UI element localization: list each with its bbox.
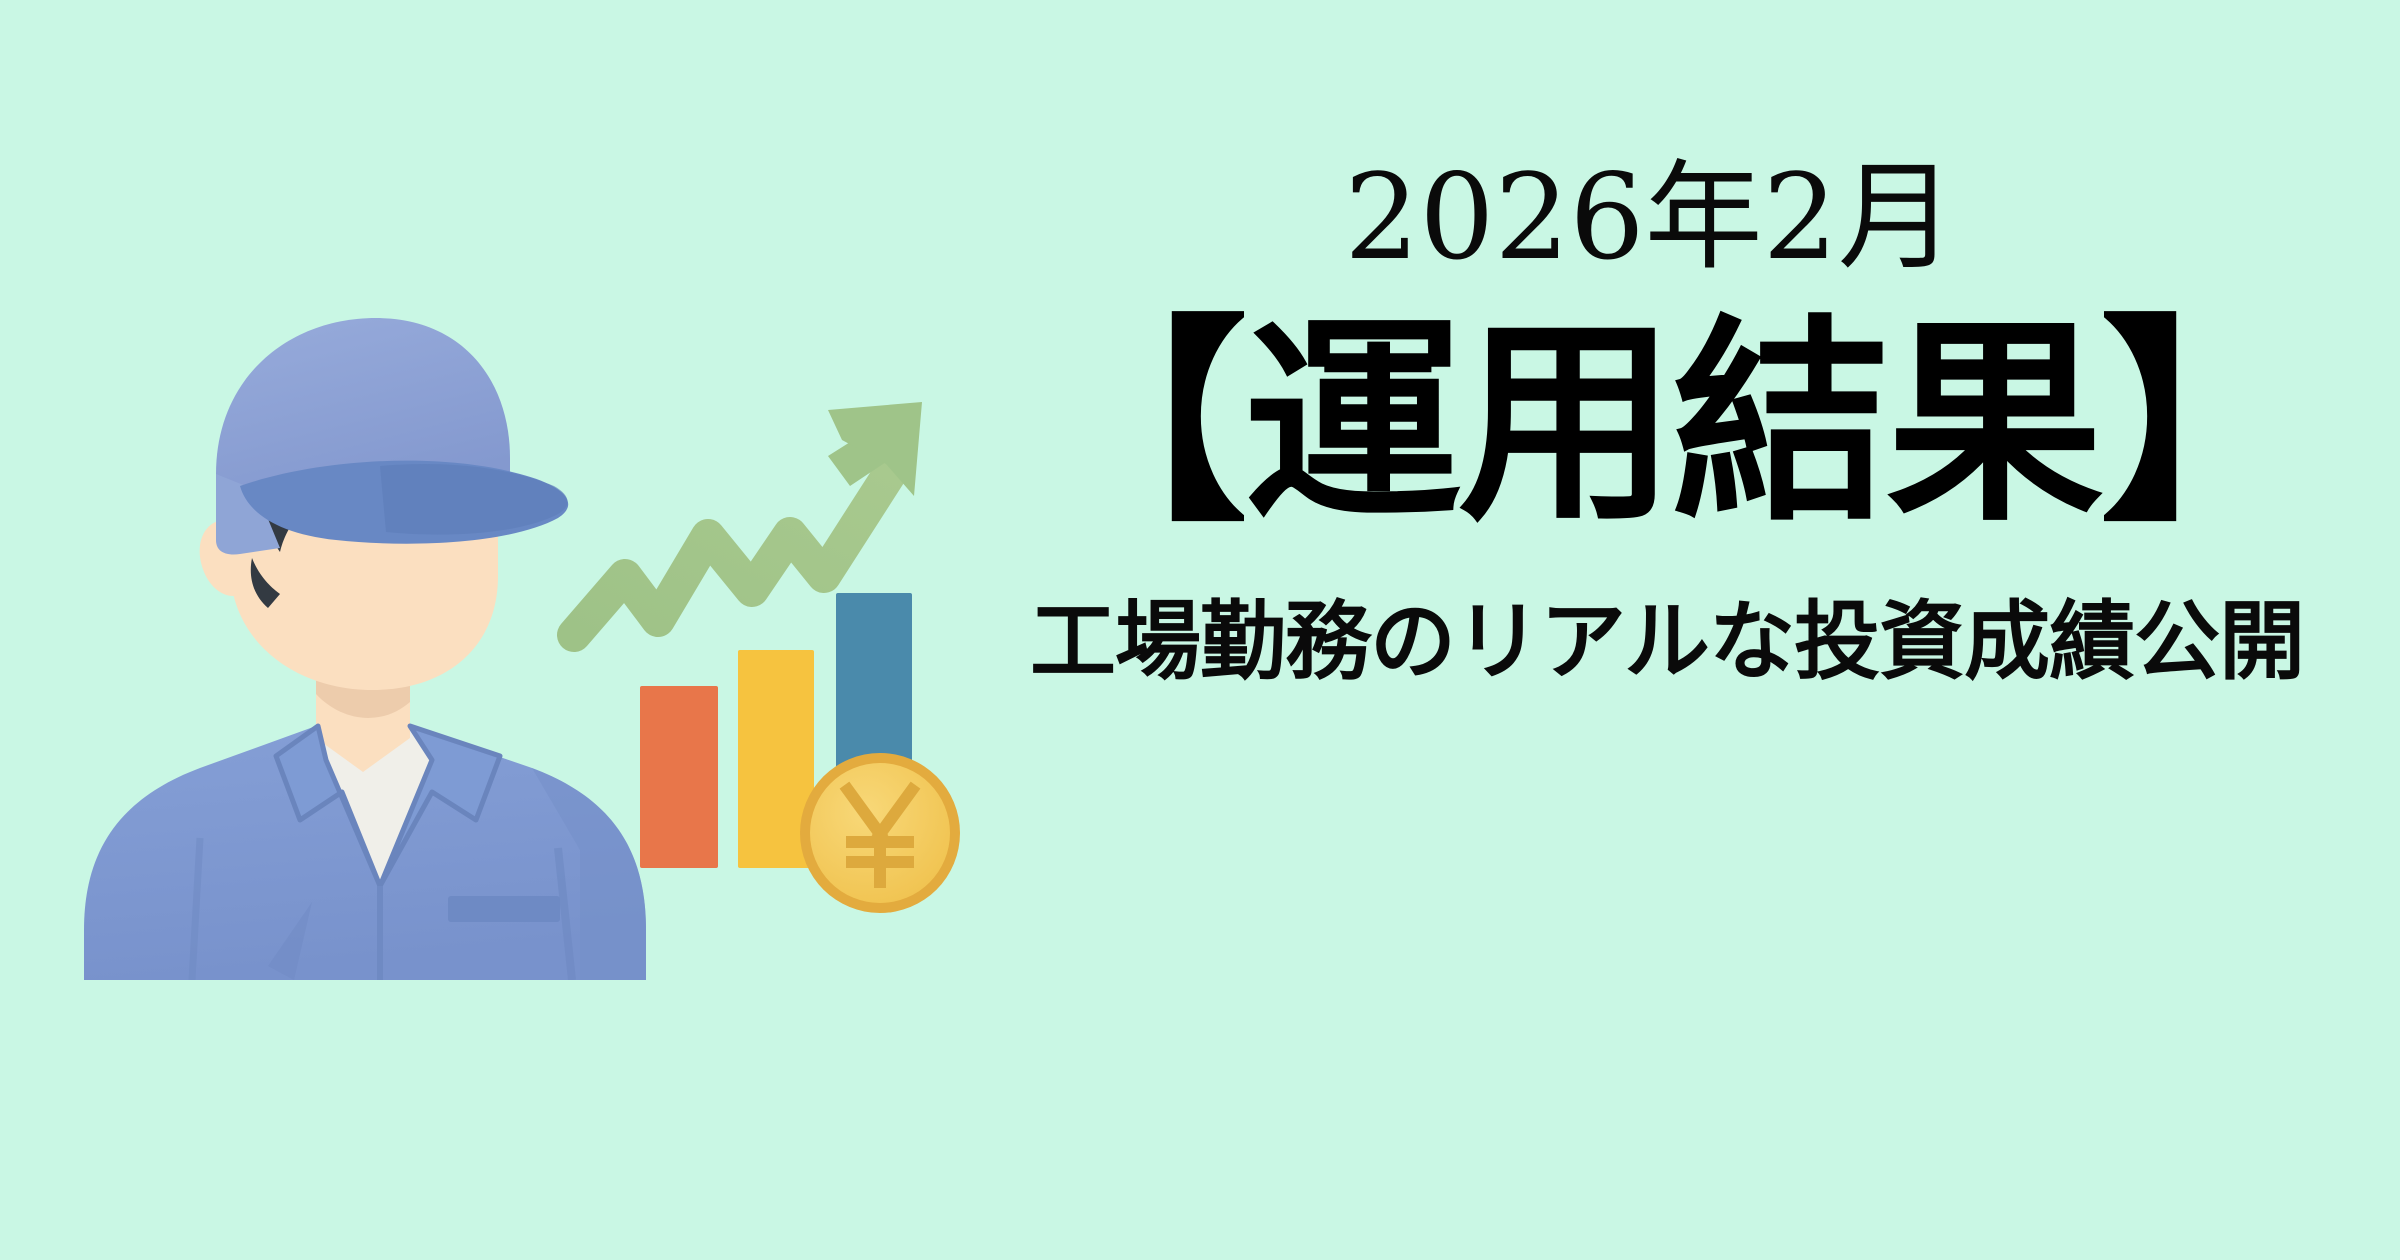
bar-orange: [640, 686, 718, 868]
date-line: 2026年2月: [1030, 150, 2270, 286]
banner-canvas: 2026年2月 【運用結果】 工場勤務のリアルな投資成績公開: [0, 0, 2400, 1260]
page-title: 【運用結果】: [1030, 296, 2270, 553]
factory-worker-illustration: [80, 290, 980, 980]
worker-figure: [84, 318, 646, 980]
subtitle: 工場勤務のリアルな投資成績公開: [1030, 595, 2270, 690]
yen-coin-icon: [800, 753, 960, 913]
worker-pocket: [448, 896, 560, 922]
headline-group: 2026年2月 【運用結果】 工場勤務のリアルな投資成績公開: [1030, 150, 2270, 690]
